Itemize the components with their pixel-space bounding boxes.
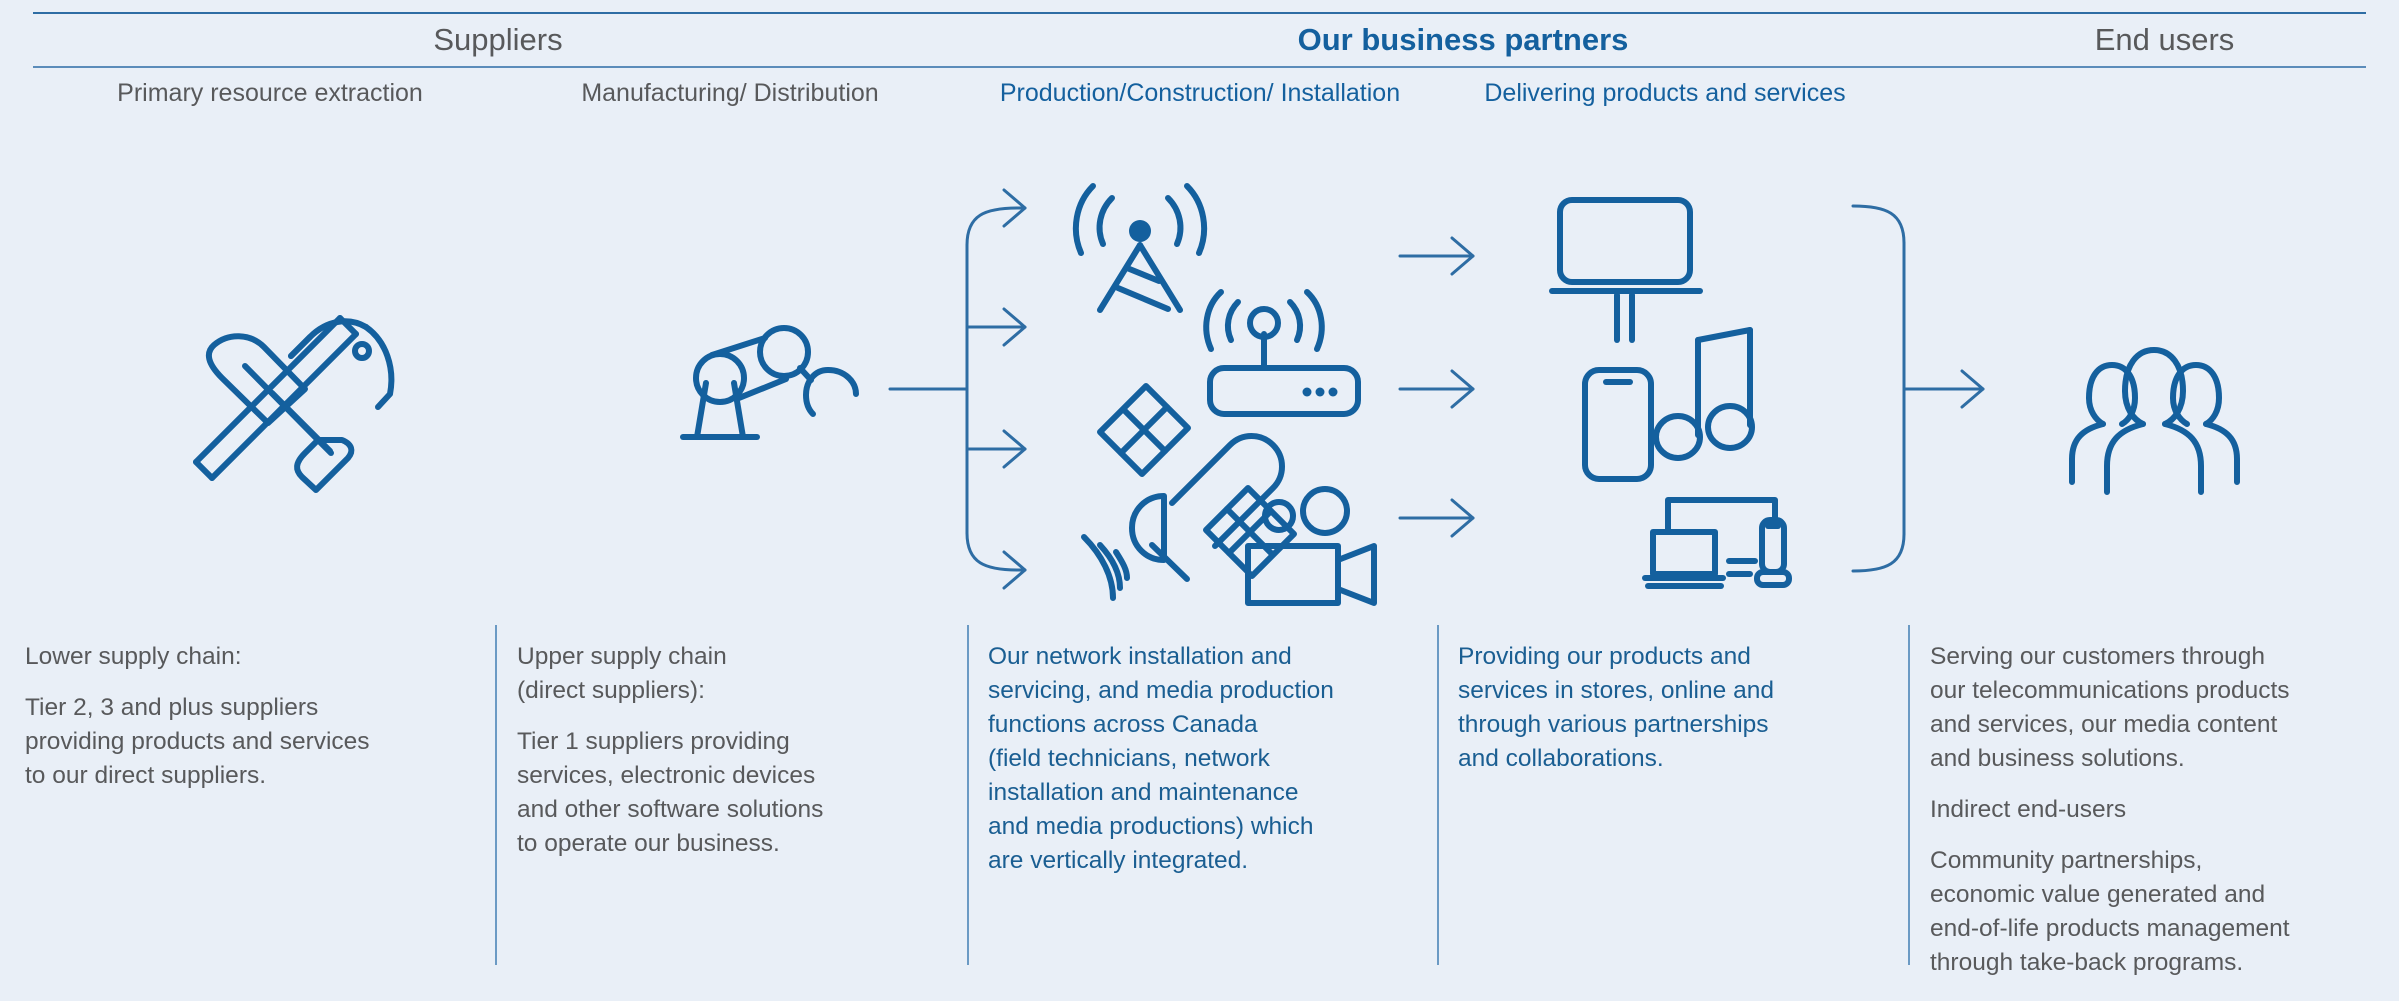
divider-2 [967, 625, 969, 965]
description-block-1: Lower supply chain: Tier 2, 3 and plus s… [25, 640, 470, 793]
divider-1 [495, 625, 497, 965]
description-paragraph: Upper supply chain (direct suppliers): [517, 640, 947, 708]
description-paragraph: Indirect end-users [1930, 793, 2380, 827]
description-paragraph: Providing our products and services in s… [1458, 640, 1878, 776]
shovel-pickaxe-icon [196, 318, 391, 490]
description-paragraph: Our network installation and servicing, … [988, 640, 1413, 878]
fanout-bracket-left [890, 190, 1025, 588]
description-paragraph: Tier 1 suppliers providing services, ele… [517, 725, 947, 861]
description-block-2: Upper supply chain (direct suppliers): T… [517, 640, 947, 861]
wifi-router-icon [1206, 292, 1358, 414]
description-paragraph: Community partnerships, economic value g… [1930, 844, 2380, 980]
divider-4 [1908, 625, 1910, 965]
television-icon [1552, 200, 1700, 340]
people-group-icon [2072, 350, 2237, 492]
laptop-icon [1645, 532, 1723, 586]
description-paragraph: Serving our customers through our teleco… [1930, 640, 2380, 776]
description-block-3: Our network installation and servicing, … [988, 640, 1413, 878]
closing-bracket-right [1853, 206, 1983, 571]
divider-3 [1437, 625, 1439, 965]
connector-arrows-mid [1400, 238, 1473, 536]
value-chain-diagram: Suppliers Our business partners End user… [0, 0, 2399, 1001]
satellite-icon [1084, 386, 1294, 598]
smartphone-icon [1585, 370, 1651, 479]
movie-camera-icon [1248, 489, 1374, 603]
description-paragraph: Lower supply chain: [25, 640, 470, 674]
description-block-5: Serving our customers through our teleco… [1930, 640, 2380, 980]
description-paragraph: Tier 2, 3 and plus suppliers providing p… [25, 691, 470, 793]
music-note-icon [1656, 330, 1752, 458]
robot-arm-icon [683, 328, 856, 437]
cell-tower-icon [1076, 186, 1204, 310]
description-block-4: Providing our products and services in s… [1458, 640, 1878, 776]
